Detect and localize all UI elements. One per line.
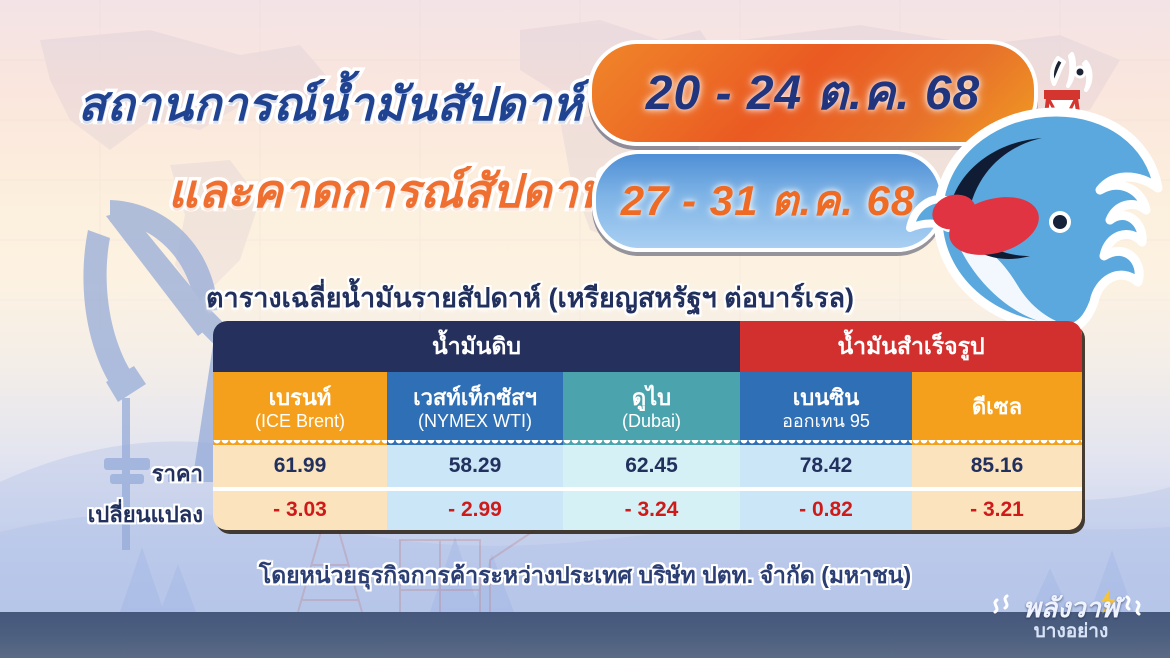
column-header-gasoline-th: เบนซิน [793,386,860,409]
price-brent: 61.99 [213,445,387,487]
change-diesel: - 3.21 [912,491,1082,530]
column-header-diesel-th: ดีเซล [972,395,1022,418]
logo-sub-text: บางอย่าง [1007,616,1135,646]
column-header-diesel: ดีเซล [912,372,1082,445]
group-header-crude: น้ำมันดิบ [213,321,740,372]
price-gasoline: 78.42 [740,445,912,487]
brand-logo: พลังวาฬ บางอย่าง [985,586,1155,648]
whale-spout-icon [1052,54,1091,90]
column-header-dubai-en: (Dubai) [622,412,681,431]
table-column-header-row: เบรนท์ (ICE Brent) เวสท์เท็กซัสฯ (NYMEX … [213,372,1082,445]
column-header-brent-en: (ICE Brent) [255,412,345,431]
price-dubai: 62.45 [563,445,740,487]
row-label-change: เปลี่ยนแปลง [58,497,203,532]
headline-line-1: สถานการณ์น้ำมันสัปดาห์ [78,68,583,141]
table-caption: ตารางเฉลี่ยน้ำมันรายสัปดาห์ (เหรียญสหรัฐ… [0,276,1060,319]
change-gasoline: - 0.82 [740,491,912,530]
table-row-change: - 3.03 - 2.99 - 3.24 - 0.82 - 3.21 [213,491,1082,530]
infographic-canvas: สถานการณ์น้ำมันสัปดาห์ และคาดการณ์สัปดาห… [0,0,1170,658]
column-header-dubai-th: ดูไบ [632,386,671,409]
column-header-brent: เบรนท์ (ICE Brent) [213,372,387,445]
change-wti: - 2.99 [387,491,563,530]
change-dubai: - 3.24 [563,491,740,530]
change-brent: - 3.03 [213,491,387,530]
column-header-gasoline: เบนซิน ออกเทน 95 [740,372,912,445]
date-badge-forecast-week-label: 27 - 31 ต.ค. 68 [621,168,916,234]
column-header-gasoline-en: ออกเทน 95 [782,412,870,431]
column-header-wti-th: เวสท์เท็กซัสฯ [413,386,537,409]
column-header-brent-th: เบรนท์ [269,386,332,409]
price-wti: 58.29 [387,445,563,487]
row-label-price: ราคา [88,456,203,491]
oil-price-table: น้ำมันดิบ น้ำมันสำเร็จรูป เบรนท์ (ICE Br… [213,321,1082,530]
price-diesel: 85.16 [912,445,1082,487]
table-group-header-row: น้ำมันดิบ น้ำมันสำเร็จรูป [213,321,1082,372]
headline-line-2: และคาดการณ์สัปดาห์ [168,155,609,228]
column-header-wti: เวสท์เท็กซัสฯ (NYMEX WTI) [387,372,563,445]
group-header-refined: น้ำมันสำเร็จรูป [740,321,1082,372]
column-header-dubai: ดูไบ (Dubai) [563,372,740,445]
column-header-wti-en: (NYMEX WTI) [418,412,532,431]
table-row-price: 61.99 58.29 62.45 78.42 85.16 [213,445,1082,487]
